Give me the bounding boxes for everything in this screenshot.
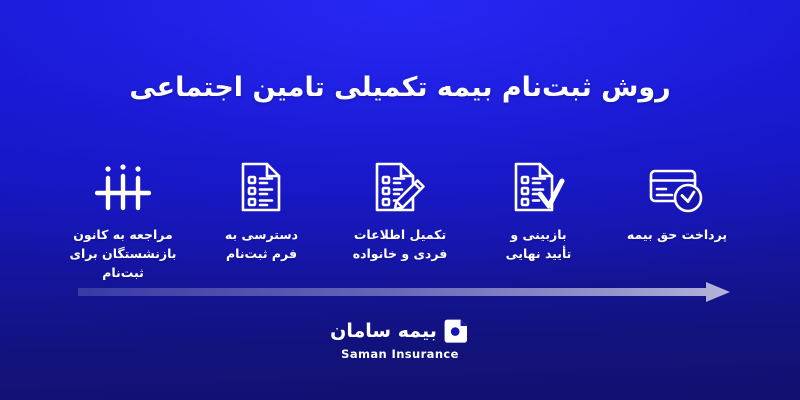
step-5-label: پرداخت حق بیمه: [627, 226, 727, 245]
step-2-label-line2: فرم ثبت‌نام: [226, 246, 297, 261]
step-1-icon-wrap: [95, 158, 151, 214]
step-5-label-line1: پرداخت حق بیمه: [627, 227, 727, 242]
brand-logo: بیمه سامان Saman Insurance: [0, 318, 800, 361]
step-4-label-line1: بازبینی و: [510, 227, 566, 242]
page-title: روش ثبت‌نام بیمه تکمیلی تامین اجتماعی: [0, 72, 800, 103]
step-4-label: بازبینی و تأیید نهایی: [506, 226, 572, 264]
step-3-icon-wrap: [373, 158, 427, 214]
step-item-2[interactable]: دسترسی به فرم ثبت‌نام: [199, 158, 325, 264]
document-pencil-icon: [373, 160, 427, 214]
step-1-label: مراجعه به کانون بازنشستگان برای ثبت‌نام: [60, 226, 186, 282]
right-arrow-icon: [78, 282, 730, 302]
infographic-canvas: روش ثبت‌نام بیمه تکمیلی تامین اجتماعی مر…: [0, 0, 800, 400]
logo-name-en: Saman Insurance: [341, 347, 459, 361]
saman-logo-mark: [444, 318, 470, 344]
step-2-label: دسترسی به فرم ثبت‌نام: [225, 226, 298, 264]
logo-row: بیمه سامان: [330, 318, 470, 344]
step-item-4[interactable]: بازبینی و تأیید نهایی: [476, 158, 602, 264]
document-check-icon: [512, 160, 566, 214]
step-1-label-line2: بازنشستگان برای ثبت‌نام: [69, 246, 176, 280]
step-item-5[interactable]: پرداخت حق بیمه: [614, 158, 740, 245]
step-4-label-line2: تأیید نهایی: [506, 246, 572, 261]
step-5-icon-wrap: [648, 158, 706, 214]
step-item-3[interactable]: تکمیل اطلاعات فردی و خانواده: [337, 158, 463, 264]
steps-row: مراجعه به کانون بازنشستگان برای ثبت‌نام: [60, 158, 740, 282]
document-checklist-icon: [239, 160, 285, 214]
progress-arrow: [78, 282, 730, 302]
step-2-label-line1: دسترسی به: [225, 227, 298, 242]
step-3-label: تکمیل اطلاعات فردی و خانواده: [353, 226, 448, 264]
step-item-1[interactable]: مراجعه به کانون بازنشستگان برای ثبت‌نام: [60, 158, 186, 282]
logo-name-fa: بیمه سامان: [330, 320, 437, 342]
step-3-label-line2: فردی و خانواده: [353, 246, 448, 261]
step-4-icon-wrap: [512, 158, 566, 214]
people-group-icon: [95, 162, 151, 214]
credit-card-check-icon: [648, 166, 706, 214]
step-2-icon-wrap: [239, 158, 285, 214]
step-3-label-line1: تکمیل اطلاعات: [354, 227, 446, 242]
step-1-label-line1: مراجعه به کانون: [73, 227, 173, 242]
